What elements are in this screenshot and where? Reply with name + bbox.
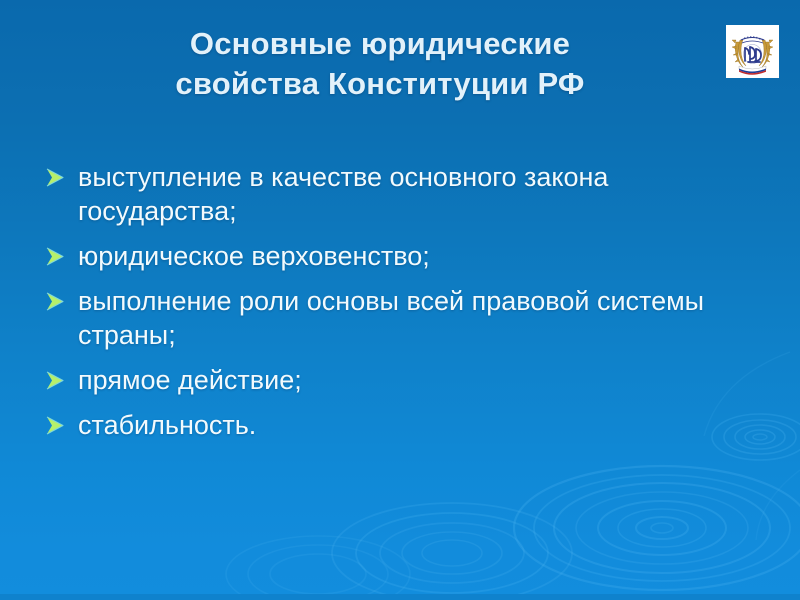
arrowhead-bullet-icon — [42, 368, 68, 394]
arrowhead-bullet-icon — [42, 165, 68, 191]
bottom-accent-band — [0, 594, 800, 600]
list-item-label: прямое действие; — [78, 363, 738, 397]
list-item: стабильность. — [38, 408, 738, 442]
list-item-label: юридическое верховенство; — [78, 239, 738, 273]
arrowhead-bullet-icon — [42, 413, 68, 439]
list-item: прямое действие; — [38, 363, 738, 397]
university-crest-emblem-icon — [726, 25, 779, 78]
list-item-label: выступление в качестве основного закона … — [78, 160, 738, 228]
list-item-label: стабильность. — [78, 408, 738, 442]
slide-title: Основные юридические свойства Конституци… — [60, 24, 700, 104]
list-item: выступление в качестве основного закона … — [38, 160, 738, 228]
list-item: выполнение роли основы всей правовой сис… — [38, 284, 738, 352]
slide-bullet-list: выступление в качестве основного закона … — [38, 160, 738, 453]
list-item: юридическое верховенство; — [38, 239, 738, 273]
list-item-label: выполнение роли основы всей правовой сис… — [78, 284, 738, 352]
arrowhead-bullet-icon — [42, 289, 68, 315]
slide-title-line-2: свойства Конституции РФ — [60, 64, 700, 104]
presentation-slide: Основные юридические свойства Конституци… — [0, 0, 800, 600]
arrowhead-bullet-icon — [42, 244, 68, 270]
slide-title-line-1: Основные юридические — [60, 24, 700, 64]
